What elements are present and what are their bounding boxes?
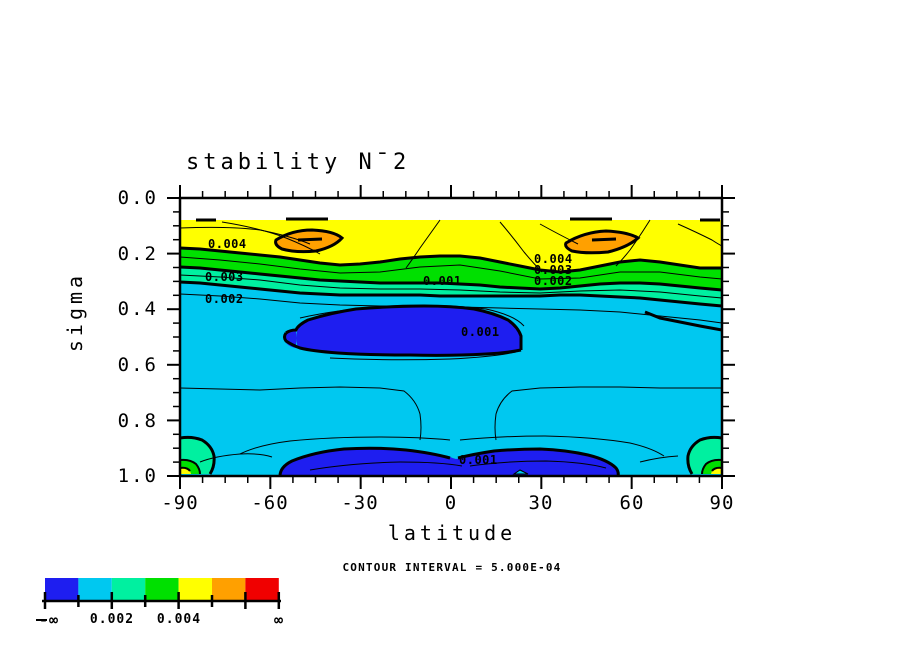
contour-label-3: 0.001 [423, 274, 462, 288]
contour-label-0: 0.004 [208, 237, 247, 251]
ytick-label-1: 0.2 [88, 243, 158, 265]
colorbar-swatch-6 [245, 578, 278, 600]
colorbar-swatch-3 [145, 578, 178, 600]
colorbar-label-0004: 0.004 [139, 612, 219, 627]
xtick-label-1: -60 [235, 492, 305, 514]
contour-label-2: 0.002 [205, 292, 244, 306]
x-axis-title: latitude [0, 521, 904, 545]
y-axis-title: sigma [63, 232, 87, 392]
contour-plot-svg [0, 0, 904, 654]
ytick-label-0: 0.0 [88, 187, 158, 209]
xtick-label-4: 30 [506, 492, 576, 514]
colorbar-swatch-1 [78, 578, 111, 600]
colorbar-swatch-4 [179, 578, 212, 600]
colorbar-swatch-5 [212, 578, 245, 600]
contour-label-7: 0.002 [534, 274, 573, 288]
contour-label-1: 0.003 [205, 270, 244, 284]
xtick-label-0: -90 [145, 492, 215, 514]
figure-canvas: stability N¯2 [0, 0, 904, 654]
xtick-label-2: -30 [325, 492, 395, 514]
contour-label-8: 0.001 [459, 453, 498, 467]
xtick-label-6: 90 [687, 492, 757, 514]
contour-label-4: 0.001 [461, 325, 500, 339]
colorbar-label-max: ∞ [239, 611, 319, 629]
colorbar-swatch-0 [45, 578, 78, 600]
xtick-label-5: 60 [597, 492, 667, 514]
xtick-label-3: 0 [416, 492, 486, 514]
contour-fill-group [180, 219, 722, 476]
colorbar-swatch-2 [112, 578, 145, 600]
ytick-label-3: 0.6 [88, 354, 158, 376]
ytick-label-5: 1.0 [88, 465, 158, 487]
contour-interval-caption: CONTOUR INTERVAL = 5.000E-04 [0, 561, 904, 574]
ytick-label-4: 0.8 [88, 410, 158, 432]
ytick-label-2: 0.4 [88, 298, 158, 320]
